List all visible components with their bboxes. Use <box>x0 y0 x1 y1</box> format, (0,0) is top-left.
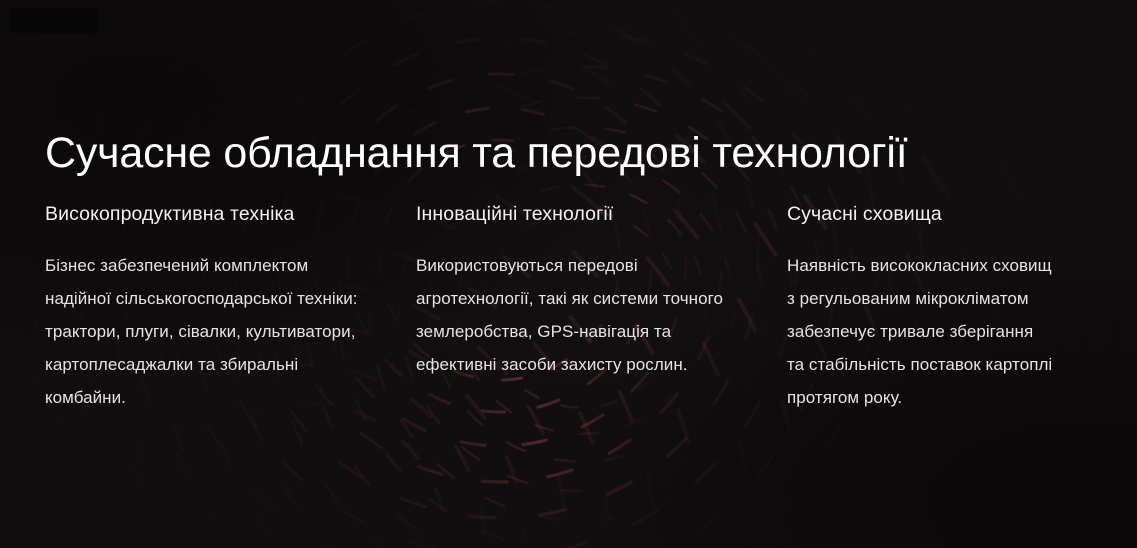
feature-body-2: Використовуються передові агротехнології… <box>416 249 728 381</box>
feature-card-1: Високопродуктивна техніка Бізнес забезпе… <box>45 201 416 414</box>
feature-title-3: Сучасні сховища <box>787 201 1137 227</box>
feature-columns: Високопродуктивна техніка Бізнес забезпе… <box>45 201 1105 414</box>
feature-card-3: Сучасні сховища Наявність висококласних … <box>787 201 1137 414</box>
page-title: Сучасне обладнання та передові технологі… <box>45 127 1075 179</box>
feature-body-3: Наявність висококласних сховищ з регульо… <box>787 249 1055 414</box>
feature-body-1: Бізнес забезпечений комплектом надійної … <box>45 249 375 414</box>
feature-section: Сучасне обладнання та передові технологі… <box>0 0 1137 548</box>
feature-title-2: Інноваційні технології <box>416 201 787 227</box>
feature-title-1: Високопродуктивна техніка <box>45 201 416 227</box>
feature-card-2: Інноваційні технології Використовуються … <box>416 201 787 414</box>
